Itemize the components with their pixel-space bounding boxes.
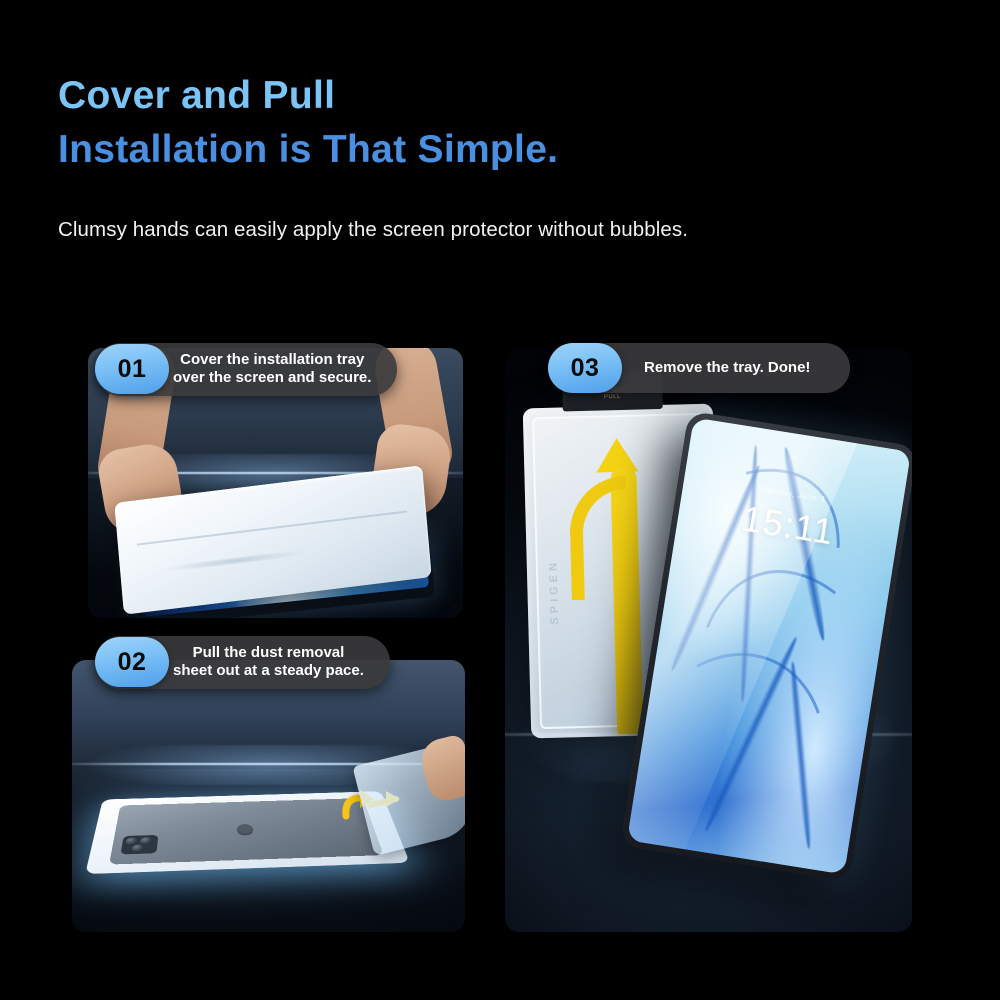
step-2-caption: Pull the dust removal sheet out at a ste… (173, 644, 364, 681)
step-2-image-panel (72, 660, 465, 932)
step-2-pill: 02 Pull the dust removal sheet out at a … (95, 636, 390, 689)
step-badge-02[interactable]: 02 Pull the dust removal sheet out at a … (95, 636, 390, 689)
step-3-caption: Remove the tray. Done! (644, 359, 810, 377)
headline-line-2: Installation is That Simple. (58, 122, 558, 178)
step-1-pill: 01 Cover the installation tray over the … (95, 343, 397, 396)
tray-brand-mark: SPIGEN (547, 559, 561, 625)
step-badge-03[interactable]: 03 Remove the tray. Done! (548, 343, 850, 393)
step-2-number: 02 (95, 637, 169, 687)
subtitle-text: Clumsy hands can easily apply the screen… (58, 218, 688, 242)
step-1-caption: Cover the installation tray over the scr… (173, 351, 371, 388)
step-3-image-panel: 一起撕下 PULL SPIGEN SPIGEN Monday, June 3 1… (505, 348, 912, 932)
headline-line-1: Cover and Pull (58, 70, 558, 122)
step-3-pill: 03 Remove the tray. Done! (548, 343, 850, 393)
step-badge-01[interactable]: 01 Cover the installation tray over the … (95, 343, 397, 396)
apple-logo-icon (237, 824, 254, 836)
promo-page: Cover and Pull Installation is That Simp… (0, 0, 1000, 1000)
headline-block: Cover and Pull Installation is That Simp… (58, 70, 558, 178)
tray-tab-label-en: PULL (562, 393, 662, 402)
step-1-number: 01 (95, 344, 169, 394)
step-3-number: 03 (548, 343, 622, 393)
camera-module-icon (120, 835, 158, 855)
